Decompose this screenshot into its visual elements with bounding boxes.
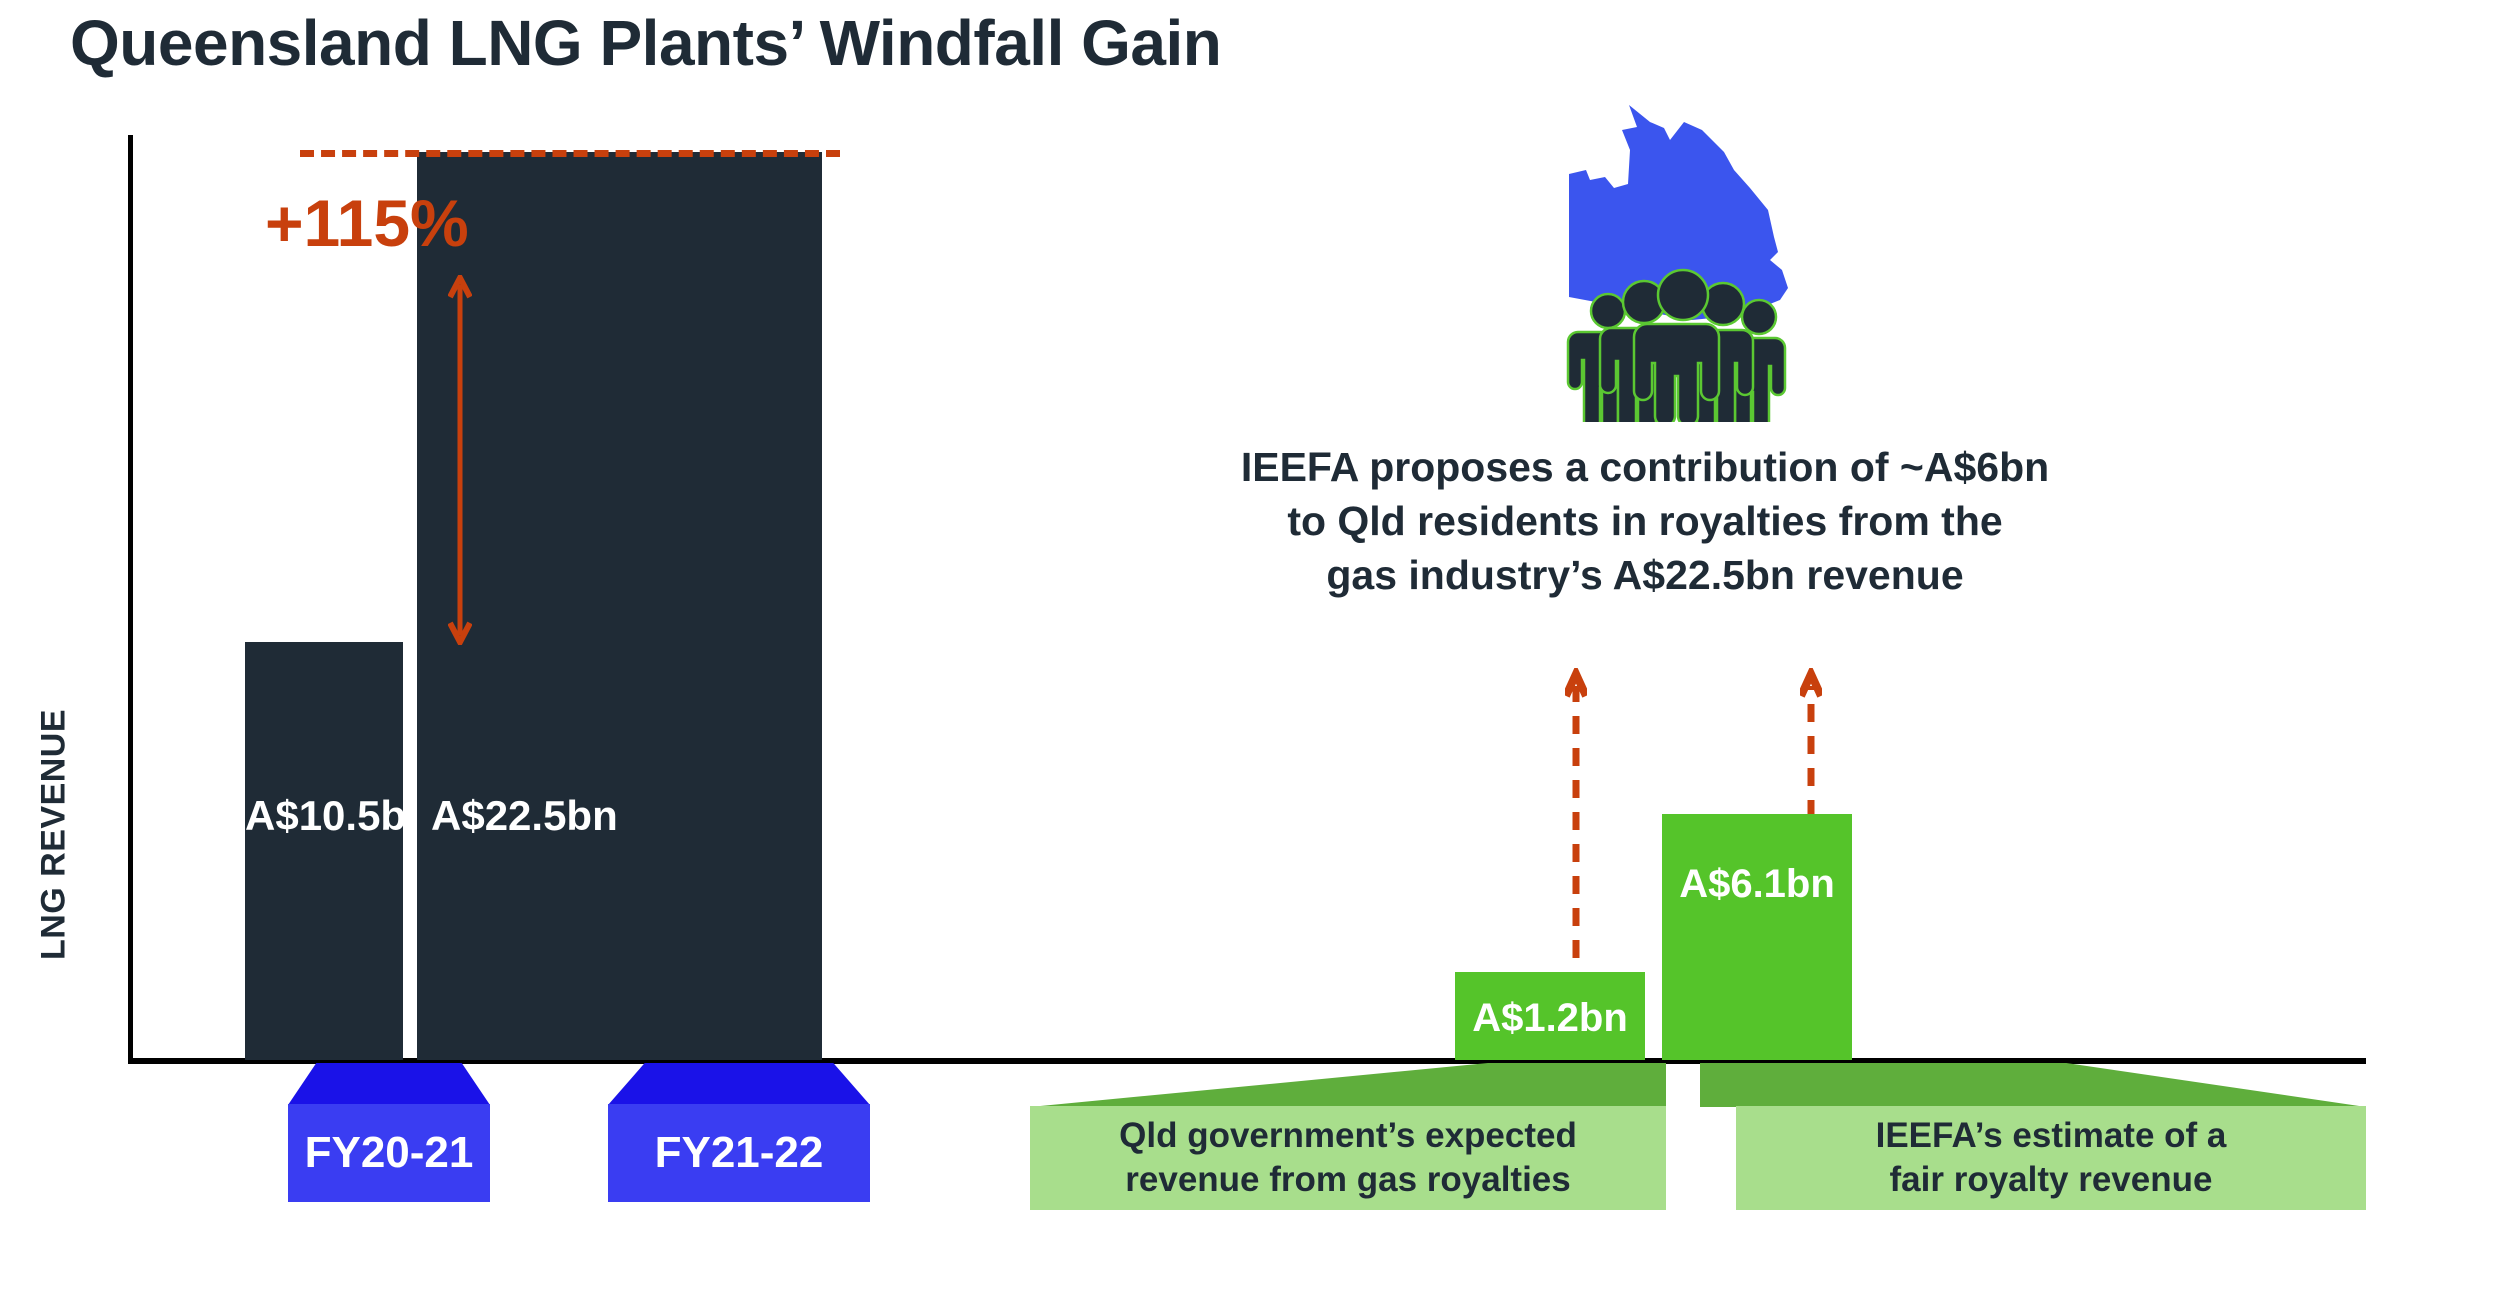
queensland-map-icon [1552,92,1848,422]
y-axis-label: LNG REVENUE [35,685,74,985]
category-ribbon-fy20-21: FY20-21 [288,1063,490,1202]
callout-text: Qld government’s expected revenue from g… [1107,1114,1589,1202]
callout-line-2: fair royalty revenue [1876,1158,2227,1202]
bar-value-label: A$10.5bn [245,792,403,840]
statement-line-3: gas industry’s A$22.5bn revenue [1140,548,2150,602]
growth-percent-label: +115% [265,185,469,261]
growth-double-arrow-icon [448,275,472,645]
category-label: FY21-22 [608,1104,870,1202]
royalty-arrow-right-icon [1800,668,1822,818]
callout-wedge [1030,1063,1666,1107]
callout-panel: IEEFA’s estimate of a fair royalty reven… [1736,1106,2366,1210]
callout-line-2: revenue from gas royalties [1119,1158,1577,1202]
callout-text: IEEFA’s estimate of a fair royalty reven… [1864,1114,2239,1202]
statement-line-1: IEEFA proposes a contribution of ~A$6bn [1140,440,2150,494]
bar-fy20-21: A$10.5bn [245,642,403,1060]
y-axis-line [128,135,133,1063]
callout-line-1: Qld government’s expected [1119,1114,1577,1158]
category-label: FY20-21 [288,1104,490,1202]
callout-qld-government: Qld government’s expected revenue from g… [1030,1063,1666,1210]
bar-qld-expected-royalties: A$1.2bn [1455,972,1645,1060]
bar-value-label: A$6.1bn [1662,862,1852,907]
callout-line-1: IEEFA’s estimate of a [1876,1114,2227,1158]
royalty-arrow-left-icon [1565,668,1587,990]
comparison-dashed-line [300,150,840,157]
callout-ieefa-estimate: IEEFA’s estimate of a fair royalty reven… [1700,1063,2366,1210]
statement-line-2: to Qld residents in royalties from the [1140,494,2150,548]
category-ribbon-fy21-22: FY21-22 [608,1063,870,1202]
page-title: Queensland LNG Plants’ Windfall Gain [70,6,1221,80]
ieefa-statement: IEEFA proposes a contribution of ~A$6bn … [1140,440,2150,602]
infographic-canvas: Queensland LNG Plants’ Windfall Gain LNG… [0,0,2500,1306]
bar-fy21-22: A$22.5bn [417,152,822,1060]
bar-value-label: A$1.2bn [1455,996,1645,1041]
bar-value-label: A$22.5bn [417,792,822,840]
callout-panel: Qld government’s expected revenue from g… [1030,1106,1666,1210]
ribbon-cap [288,1063,490,1105]
callout-wedge [1700,1063,2366,1107]
ribbon-cap [608,1063,870,1105]
bar-ieefa-fair-royalties: A$6.1bn [1662,814,1852,1060]
